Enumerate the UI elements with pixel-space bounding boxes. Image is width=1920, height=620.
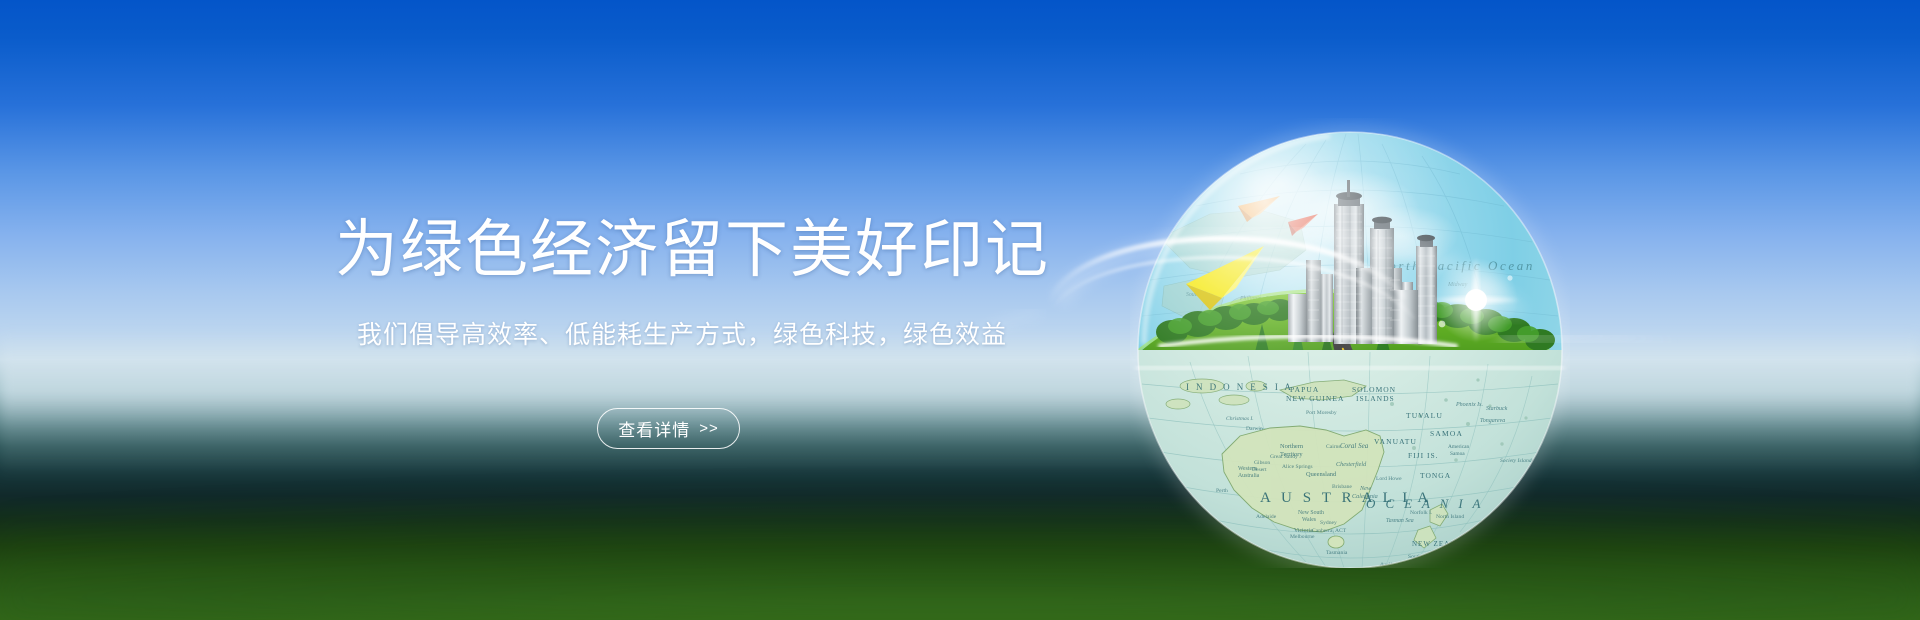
svg-text:VANUATU: VANUATU	[1374, 437, 1417, 446]
svg-text:North Island: North Island	[1436, 514, 1464, 520]
page-subtitle: 我们倡导高效率、低能耗生产方式，绿色科技，绿色效益	[357, 319, 1015, 351]
svg-text:Coral Sea: Coral Sea	[1340, 442, 1369, 450]
svg-text:Great Sandy: Great Sandy	[1270, 454, 1298, 460]
svg-text:O C E A N I A: O C E A N I A	[1366, 496, 1484, 511]
view-details-label: 查看详情	[618, 416, 690, 441]
svg-text:Tasman Sea: Tasman Sea	[1386, 518, 1414, 524]
svg-text:Cairns: Cairns	[1326, 444, 1341, 450]
svg-text:Lord Howe: Lord Howe	[1376, 476, 1402, 482]
chevron-right-icon: >>	[699, 420, 719, 437]
svg-text:Northern: Northern	[1280, 443, 1304, 450]
svg-text:ISLANDS: ISLANDS	[1356, 394, 1395, 403]
page-title: 为绿色经济留下美好印记	[335, 215, 1015, 285]
hero-banner: I N D O N E S I A PAPUA NEW GUINEA SOLOM…	[0, 0, 1920, 620]
svg-text:Tasmania: Tasmania	[1326, 550, 1348, 556]
tasmania-landmass	[1328, 536, 1344, 548]
svg-text:Norfolk I.: Norfolk I.	[1410, 509, 1433, 516]
svg-text:Canberra, ACT: Canberra, ACT	[1312, 528, 1347, 534]
svg-text:Wales: Wales	[1302, 517, 1317, 523]
svg-text:SOLOMON: SOLOMON	[1352, 385, 1396, 394]
svg-text:Brisbane: Brisbane	[1332, 484, 1352, 490]
svg-text:Starbuck: Starbuck	[1486, 406, 1508, 412]
svg-text:NEW GUINEA: NEW GUINEA	[1286, 394, 1345, 403]
svg-text:Phoenix Is.: Phoenix Is.	[1455, 402, 1483, 408]
svg-text:Chesterfield: Chesterfield	[1336, 461, 1367, 468]
globe-svg: I N D O N E S I A PAPUA NEW GUINEA SOLOM…	[1130, 118, 1570, 568]
svg-text:Desert: Desert	[1252, 467, 1267, 473]
svg-text:Gibson: Gibson	[1254, 460, 1270, 466]
svg-text:Alice Springs: Alice Springs	[1282, 464, 1313, 470]
svg-text:Tongareva: Tongareva	[1480, 418, 1505, 424]
svg-text:Samoa: Samoa	[1450, 451, 1465, 457]
svg-text:Perth: Perth	[1216, 488, 1228, 494]
svg-text:TONGA: TONGA	[1420, 471, 1451, 480]
svg-text:Queensland: Queensland	[1306, 471, 1337, 478]
svg-text:Adelaide: Adelaide	[1256, 514, 1277, 520]
hero-copy-block: 为绿色经济留下美好印记 我们倡导高效率、低能耗生产方式，绿色科技，绿色效益	[335, 215, 1015, 351]
svg-text:Society Islands: Society Islands	[1500, 458, 1534, 464]
svg-text:Darwin: Darwin	[1246, 426, 1263, 432]
view-details-button[interactable]: 查看详情 >>	[597, 408, 740, 449]
svg-text:SAMOA: SAMOA	[1430, 429, 1463, 438]
svg-text:American: American	[1448, 444, 1470, 450]
svg-text:PAPUA: PAPUA	[1290, 385, 1319, 394]
svg-text:Port Moresby: Port Moresby	[1306, 410, 1337, 416]
svg-text:TUVALU: TUVALU	[1406, 411, 1443, 420]
globe-illustration: I N D O N E S I A PAPUA NEW GUINEA SOLOM…	[1130, 118, 1570, 568]
svg-text:I N D O N E S I A: I N D O N E S I A	[1186, 382, 1293, 392]
svg-text:FIJI IS.: FIJI IS.	[1408, 451, 1439, 460]
equator-glow-line	[1136, 366, 1564, 370]
svg-text:Melbourne: Melbourne	[1290, 534, 1315, 540]
svg-text:Christmas I.: Christmas I.	[1226, 416, 1254, 422]
svg-text:New South: New South	[1298, 510, 1324, 516]
svg-text:Australia: Australia	[1238, 473, 1260, 479]
svg-text:Sydney: Sydney	[1320, 520, 1337, 526]
